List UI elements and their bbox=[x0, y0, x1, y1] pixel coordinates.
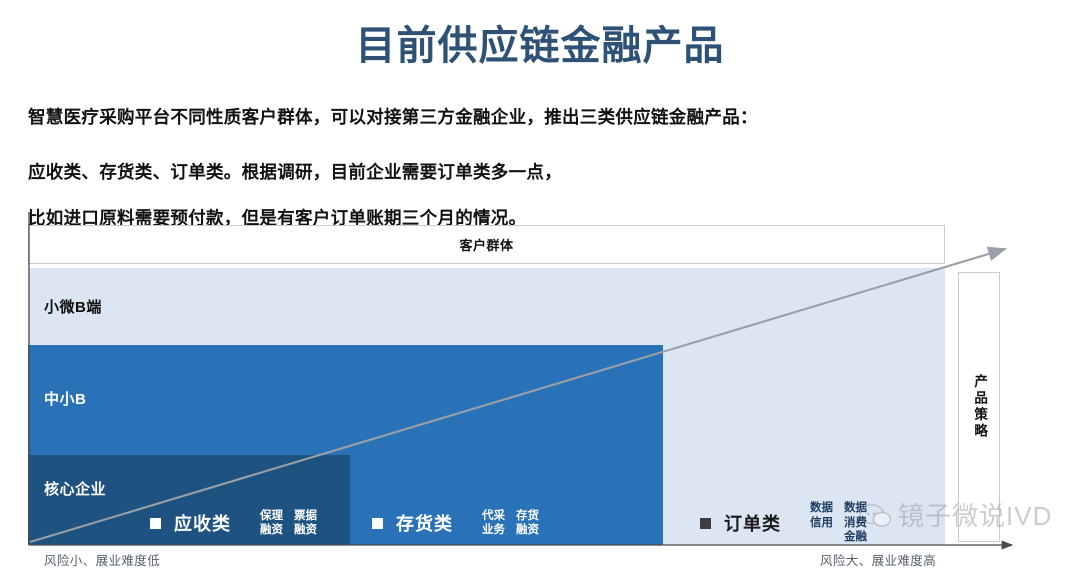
axis-note-low-risk: 风险小、展业难度低 bbox=[44, 550, 160, 569]
product-subitems-receivable: 保理 融资 票据 融资 bbox=[249, 509, 317, 538]
body-paragraph-line-2: 应收类、存货类、订单类。根据调研，目前企业需要订单类多一点， bbox=[28, 159, 562, 184]
chart-header-customer-groups: 客户群体 bbox=[28, 225, 945, 264]
product-strategy-axis-box: 产品策略 bbox=[958, 272, 1000, 542]
chart-header-label: 客户群体 bbox=[459, 235, 513, 254]
tier-band-micro-b bbox=[28, 268, 945, 345]
tier-label-core-enterprise: 核心企业 bbox=[44, 478, 106, 499]
product-subitem: 票据 融资 bbox=[294, 509, 317, 538]
square-marker-icon bbox=[700, 518, 711, 529]
product-subitem: 数据 消费 金融 bbox=[844, 501, 867, 544]
product-strategy-label: 产品策略 bbox=[970, 374, 988, 440]
product-legend-receivable: 应收类 保理 融资 票据 融资 bbox=[150, 500, 317, 546]
product-subitem: 代采 业务 bbox=[482, 509, 505, 538]
product-legend-inventory: 存货类 代采 业务 存货 融资 bbox=[372, 500, 539, 546]
body-paragraph-line-1: 智慧医疗采购平台不同性质客户群体，可以对接第三方金融企业，推出三类供应链金融产品… bbox=[28, 104, 758, 129]
product-subitem: 数据 信用 bbox=[810, 501, 833, 544]
product-subitems-inventory: 代采 业务 存货 融资 bbox=[471, 509, 539, 538]
product-name-receivable: 应收类 bbox=[174, 510, 231, 536]
square-marker-icon bbox=[372, 518, 383, 529]
product-legend-order: 订单类 数据 信用 数据 消费 金融 bbox=[700, 500, 867, 546]
slide-canvas: 目前供应链金融产品 智慧医疗采购平台不同性质客户群体，可以对接第三方金融企业，推… bbox=[0, 0, 1080, 578]
tier-label-micro-b: 小微B端 bbox=[44, 296, 102, 317]
product-name-order: 订单类 bbox=[724, 510, 781, 536]
product-subitem: 保理 融资 bbox=[260, 509, 283, 538]
tier-label-sme-b: 中小B bbox=[44, 388, 86, 409]
axis-note-high-risk: 风险大、展业难度高 bbox=[820, 550, 936, 569]
tier-band-sme-b bbox=[28, 345, 663, 455]
page-title: 目前供应链金融产品 bbox=[0, 22, 1080, 70]
product-subitems-order: 数据 信用 数据 消费 金融 bbox=[799, 501, 867, 544]
supply-chain-matrix-chart: 客户群体 小微B端 中小B 核心企业 应收类 保理 融资 票据 融资 存货类 bbox=[0, 212, 1080, 578]
square-marker-icon bbox=[150, 518, 161, 529]
product-subitem: 存货 融资 bbox=[516, 509, 539, 538]
product-name-inventory: 存货类 bbox=[396, 510, 453, 536]
